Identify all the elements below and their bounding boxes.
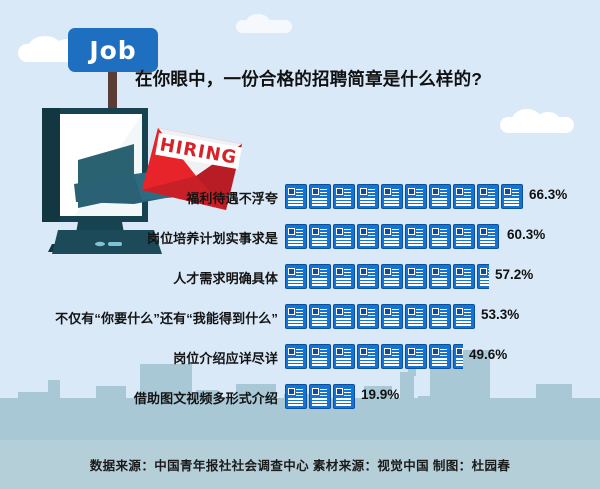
newspaper-document-icon — [429, 344, 451, 369]
newspaper-document-icon — [453, 184, 475, 209]
newspaper-document-icon — [453, 304, 475, 329]
newspaper-document-icon — [429, 304, 451, 329]
newspaper-document-icon — [309, 184, 331, 209]
chart-row: 岗位介绍应详尽详 49.6% — [0, 340, 600, 374]
newspaper-document-icon — [333, 224, 355, 249]
newspaper-document-icon — [405, 264, 427, 289]
newspaper-document-icon — [405, 344, 427, 369]
newspaper-document-icon — [285, 344, 307, 369]
chart-row: 岗位培养计划实事求是 60.3% — [0, 220, 600, 254]
newspaper-document-icon — [333, 184, 355, 209]
newspaper-document-icon — [333, 344, 355, 369]
chart-row-value: 60.3% — [507, 227, 545, 242]
newspaper-document-icon — [285, 304, 307, 329]
newspaper-document-icon — [357, 264, 379, 289]
newspaper-document-icon — [429, 264, 451, 289]
newspaper-document-icon — [381, 264, 403, 289]
newspaper-document-icon — [453, 344, 463, 369]
chart-row: 借助图文视频多形式介绍 19.9% — [0, 380, 600, 414]
chart-row-label: 借助图文视频多形式介绍 — [0, 388, 278, 407]
chart-row-bar — [285, 304, 475, 329]
page-title: 在你眼中，一份合格的招聘简章是什么样的? — [135, 66, 482, 91]
newspaper-document-icon — [453, 264, 475, 289]
newspaper-document-icon — [429, 184, 451, 209]
cloud-icon — [236, 20, 292, 33]
newspaper-document-icon — [477, 264, 489, 289]
signpost-label: Job — [89, 38, 136, 63]
chart-row-value: 66.3% — [529, 187, 567, 202]
newspaper-document-icon — [405, 184, 427, 209]
newspaper-document-icon — [309, 304, 331, 329]
newspaper-document-icon — [309, 224, 331, 249]
cloud-icon — [500, 117, 574, 133]
chart-row-bar — [285, 224, 501, 249]
newspaper-document-icon — [285, 264, 307, 289]
chart-row: 不仅有“你要什么”还有“我能得到什么” 53.3% — [0, 300, 600, 334]
chart-row-value: 19.9% — [361, 387, 399, 402]
newspaper-document-icon — [429, 224, 451, 249]
newspaper-document-icon — [309, 264, 331, 289]
chart-row-bar — [285, 384, 355, 409]
chart-row: 人才需求明确具体 57.2% — [0, 260, 600, 294]
chart-row-label: 岗位介绍应详尽详 — [0, 348, 278, 367]
newspaper-document-icon — [381, 224, 403, 249]
newspaper-document-icon — [309, 344, 331, 369]
chart-row-bar — [285, 344, 463, 369]
newspaper-document-icon — [357, 224, 379, 249]
footer-band: 数据来源：中国青年报社社会调查中心 素材来源：视觉中国 制图：杜园春 — [0, 440, 600, 489]
chart-row-bar — [285, 264, 489, 289]
newspaper-document-icon — [333, 384, 355, 409]
chart-row-value: 49.6% — [469, 347, 507, 362]
newspaper-document-icon — [405, 224, 427, 249]
source-credit: 数据来源：中国青年报社社会调查中心 素材来源：视觉中国 制图：杜园春 — [90, 455, 511, 474]
newspaper-document-icon — [333, 264, 355, 289]
chart-row-label: 岗位培养计划实事求是 — [0, 228, 278, 247]
newspaper-document-icon — [285, 224, 307, 249]
chart-row-bar — [285, 184, 523, 209]
newspaper-document-icon — [381, 184, 403, 209]
newspaper-document-icon — [357, 184, 379, 209]
newspaper-document-icon — [501, 184, 523, 209]
newspaper-document-icon — [381, 344, 403, 369]
chart-row-label: 福利待遇不浮夸 — [0, 188, 278, 207]
newspaper-document-icon — [477, 184, 499, 209]
infographic-canvas: Job 在你眼中，一份合格的招聘简章是什么样的? — [0, 0, 600, 489]
chart-row-label: 人才需求明确具体 — [0, 268, 278, 287]
pictogram-chart: 福利待遇不浮夸 66.3% 岗位培养计划实事求是 60.3% 人才需求明确具体 … — [0, 180, 600, 420]
newspaper-document-icon — [453, 224, 475, 249]
newspaper-document-icon — [405, 304, 427, 329]
newspaper-document-icon — [333, 304, 355, 329]
newspaper-document-icon — [285, 384, 307, 409]
newspaper-document-icon — [285, 184, 307, 209]
chart-row: 福利待遇不浮夸 66.3% — [0, 180, 600, 214]
newspaper-document-icon — [477, 224, 499, 249]
chart-row-value: 53.3% — [481, 307, 519, 322]
newspaper-document-icon — [357, 344, 379, 369]
chart-row-label: 不仅有“你要什么”还有“我能得到什么” — [0, 308, 278, 327]
newspaper-document-icon — [381, 304, 403, 329]
chart-row-value: 57.2% — [495, 267, 533, 282]
newspaper-document-icon — [357, 304, 379, 329]
newspaper-document-icon — [309, 384, 331, 409]
